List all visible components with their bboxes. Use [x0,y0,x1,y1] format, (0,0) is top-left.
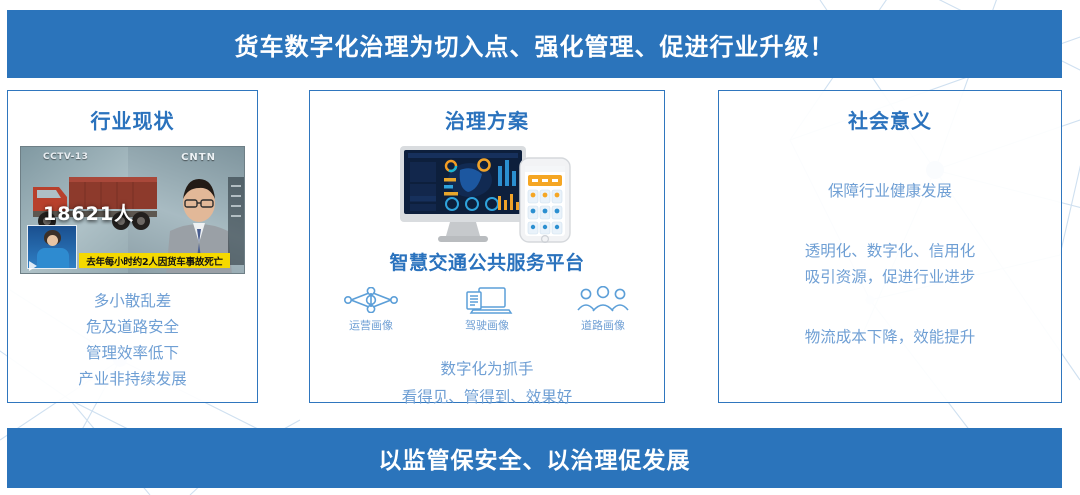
header-banner: 货车数字化治理为切入点、强化管理、促进行业升级！ [7,10,1062,78]
people-group-icon [575,285,631,315]
slide-canvas: 货车数字化治理为切入点、强化管理、促进行业升级！ 行业现状 [0,0,1080,495]
card-middle-line-2: 看得见、管得到、效果好 [310,383,664,411]
card-left-line-4: 产业非持续发展 [8,366,257,392]
laptop-document-icon [461,285,513,315]
capability-item-road: 道路画像 [566,285,640,333]
capability-icon-row: 运营画像 驾驶画像 [310,285,664,333]
news-screenshot-image: CCTV-13 CNTN 18621人 去年每小时约2人因货车事故死亡 [20,146,245,274]
card-right-lines: 保障行业健康发展 透明化、数字化、信用化 吸引资源，促进行业进步 物流成本下降，… [719,144,1061,350]
cctv-channel-logo: CCTV-13 [43,152,88,162]
capability-label-road: 道路画像 [581,317,625,333]
capability-item-operations: 运营画像 [334,285,408,333]
news-overlay-number: 18621人 [43,199,134,226]
card-left-line-1: 多小散乱差 [8,288,257,314]
card-left-line-2: 危及道路安全 [8,314,257,340]
capability-label-driving: 驾驶画像 [465,317,509,333]
card-social-significance: 社会意义 保障行业健康发展 透明化、数字化、信用化 吸引资源，促进行业进步 物流… [718,90,1062,403]
card-right-line-3: 吸引资源，促进行业进步 [719,264,1061,290]
card-right-title: 社会意义 [848,105,932,134]
platform-name: 智慧交通公共服务平台 [389,248,584,275]
card-middle-lines: 数字化为抓手 看得见、管得到、效果好 [310,355,664,411]
card-industry-status: 行业现状 [7,90,258,403]
card-left-lines: 多小散乱差 危及道路安全 管理效率低下 产业非持续发展 [8,288,257,392]
video-side-controls [228,177,244,265]
card-left-line-3: 管理效率低下 [8,340,257,366]
capability-item-driving: 驾驶画像 [450,285,524,333]
cntn-logo: CNTN [181,152,216,163]
card-right-line-4: 物流成本下降，效能提升 [719,324,1061,350]
network-nodes-icon [343,285,399,315]
card-right-line-1: 保障行业健康发展 [719,178,1061,204]
card-governance-plan: 治理方案 [309,90,665,403]
card-left-title: 行业现状 [91,105,175,134]
news-subtitle-text: 去年每小时约2人因货车事故死亡 [86,254,223,268]
footer-banner: 以监管保安全、以治理促发展 [7,428,1062,488]
footer-title: 以监管保安全、以治理促发展 [379,441,691,475]
card-middle-title: 治理方案 [445,105,529,134]
card-middle-line-1: 数字化为抓手 [310,355,664,383]
play-icon [29,261,37,271]
header-title: 货车数字化治理为切入点、强化管理、促进行业升级！ [235,27,835,62]
news-subtitle-bar: 去年每小时约2人因货车事故死亡 [79,253,230,268]
platform-device-illustration [394,144,580,244]
card-right-line-2: 透明化、数字化、信用化 [719,238,1061,264]
capability-label-operations: 运营画像 [349,317,393,333]
